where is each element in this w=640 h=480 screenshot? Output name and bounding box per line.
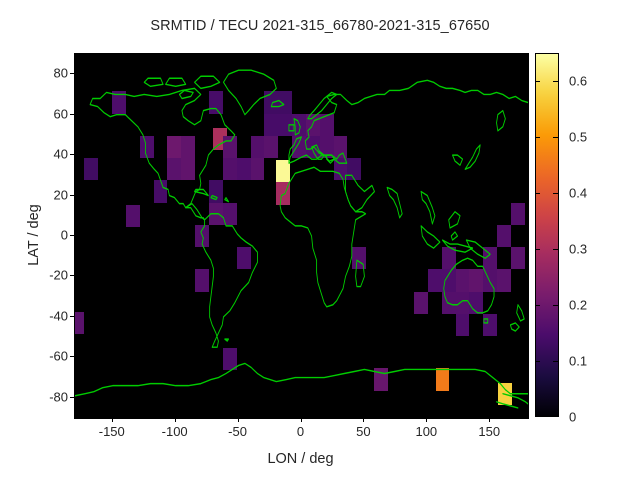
x-axis-ticks: -150-100-50050100150 bbox=[0, 424, 640, 444]
colorbar-gradient bbox=[535, 53, 559, 417]
colorbar-tick-mark bbox=[553, 193, 558, 194]
chart-title: SRMTID / TECU 2021-315_66780-2021-315_67… bbox=[0, 18, 640, 34]
x-axis-label: LON / deg bbox=[74, 451, 527, 467]
y-tick-mark bbox=[70, 195, 74, 196]
y-tick-mark bbox=[70, 154, 74, 155]
colorbar: 0.60.50.40.30.20.10 bbox=[535, 53, 559, 417]
y-tick-mark bbox=[70, 356, 74, 357]
y-tick-label: 80 bbox=[8, 66, 68, 81]
x-tick-label: 100 bbox=[415, 424, 437, 439]
coastline-layer bbox=[75, 54, 528, 418]
colorbar-tick-mark bbox=[553, 137, 558, 138]
colorbar-tick-label: 0.4 bbox=[569, 186, 587, 201]
y-tick-label: -40 bbox=[8, 308, 68, 323]
colorbar-tick-mark bbox=[535, 249, 540, 250]
y-tick-mark bbox=[70, 73, 74, 74]
colorbar-tick-mark bbox=[535, 81, 540, 82]
y-tick-label: -60 bbox=[8, 349, 68, 364]
x-tick-label: 50 bbox=[356, 424, 370, 439]
colorbar-tick-mark bbox=[535, 137, 540, 138]
x-tick-label: 0 bbox=[297, 424, 304, 439]
colorbar-tick-mark bbox=[553, 81, 558, 82]
colorbar-tick-label: 0.2 bbox=[569, 298, 587, 313]
y-tick-mark bbox=[70, 316, 74, 317]
x-tick-label: -50 bbox=[228, 424, 247, 439]
y-axis-ticks: 806040200-20-40-60-80 bbox=[0, 0, 68, 480]
y-tick-label: 0 bbox=[8, 228, 68, 243]
x-tick-label: -150 bbox=[99, 424, 125, 439]
y-tick-mark bbox=[70, 235, 74, 236]
colorbar-tick-mark bbox=[535, 361, 540, 362]
x-tick-mark bbox=[426, 418, 427, 422]
figure-canvas: SRMTID / TECU 2021-315_66780-2021-315_67… bbox=[0, 0, 640, 480]
colorbar-tick-label: 0 bbox=[569, 410, 576, 425]
x-tick-mark bbox=[363, 418, 364, 422]
x-tick-mark bbox=[175, 418, 176, 422]
colorbar-tick-label: 0.6 bbox=[569, 74, 587, 89]
colorbar-tick-mark bbox=[535, 305, 540, 306]
x-tick-mark bbox=[301, 418, 302, 422]
y-tick-mark bbox=[70, 275, 74, 276]
colorbar-tick-label: 0.5 bbox=[569, 130, 587, 145]
y-tick-label: -20 bbox=[8, 268, 68, 283]
map-plot-area[interactable] bbox=[74, 53, 529, 419]
y-tick-label: 40 bbox=[8, 147, 68, 162]
x-tick-mark bbox=[238, 418, 239, 422]
x-tick-label: 150 bbox=[478, 424, 500, 439]
colorbar-tick-label: 0.1 bbox=[569, 354, 587, 369]
y-tick-mark bbox=[70, 397, 74, 398]
y-tick-label: -80 bbox=[8, 389, 68, 404]
x-tick-mark bbox=[489, 418, 490, 422]
y-tick-label: 60 bbox=[8, 106, 68, 121]
colorbar-tick-label: 0.3 bbox=[569, 242, 587, 257]
y-tick-mark bbox=[70, 114, 74, 115]
colorbar-tick-mark bbox=[553, 249, 558, 250]
colorbar-tick-mark bbox=[535, 193, 540, 194]
x-tick-mark bbox=[112, 418, 113, 422]
colorbar-tick-mark bbox=[553, 361, 558, 362]
colorbar-tick-mark bbox=[553, 305, 558, 306]
x-tick-label: -100 bbox=[162, 424, 188, 439]
y-tick-label: 20 bbox=[8, 187, 68, 202]
